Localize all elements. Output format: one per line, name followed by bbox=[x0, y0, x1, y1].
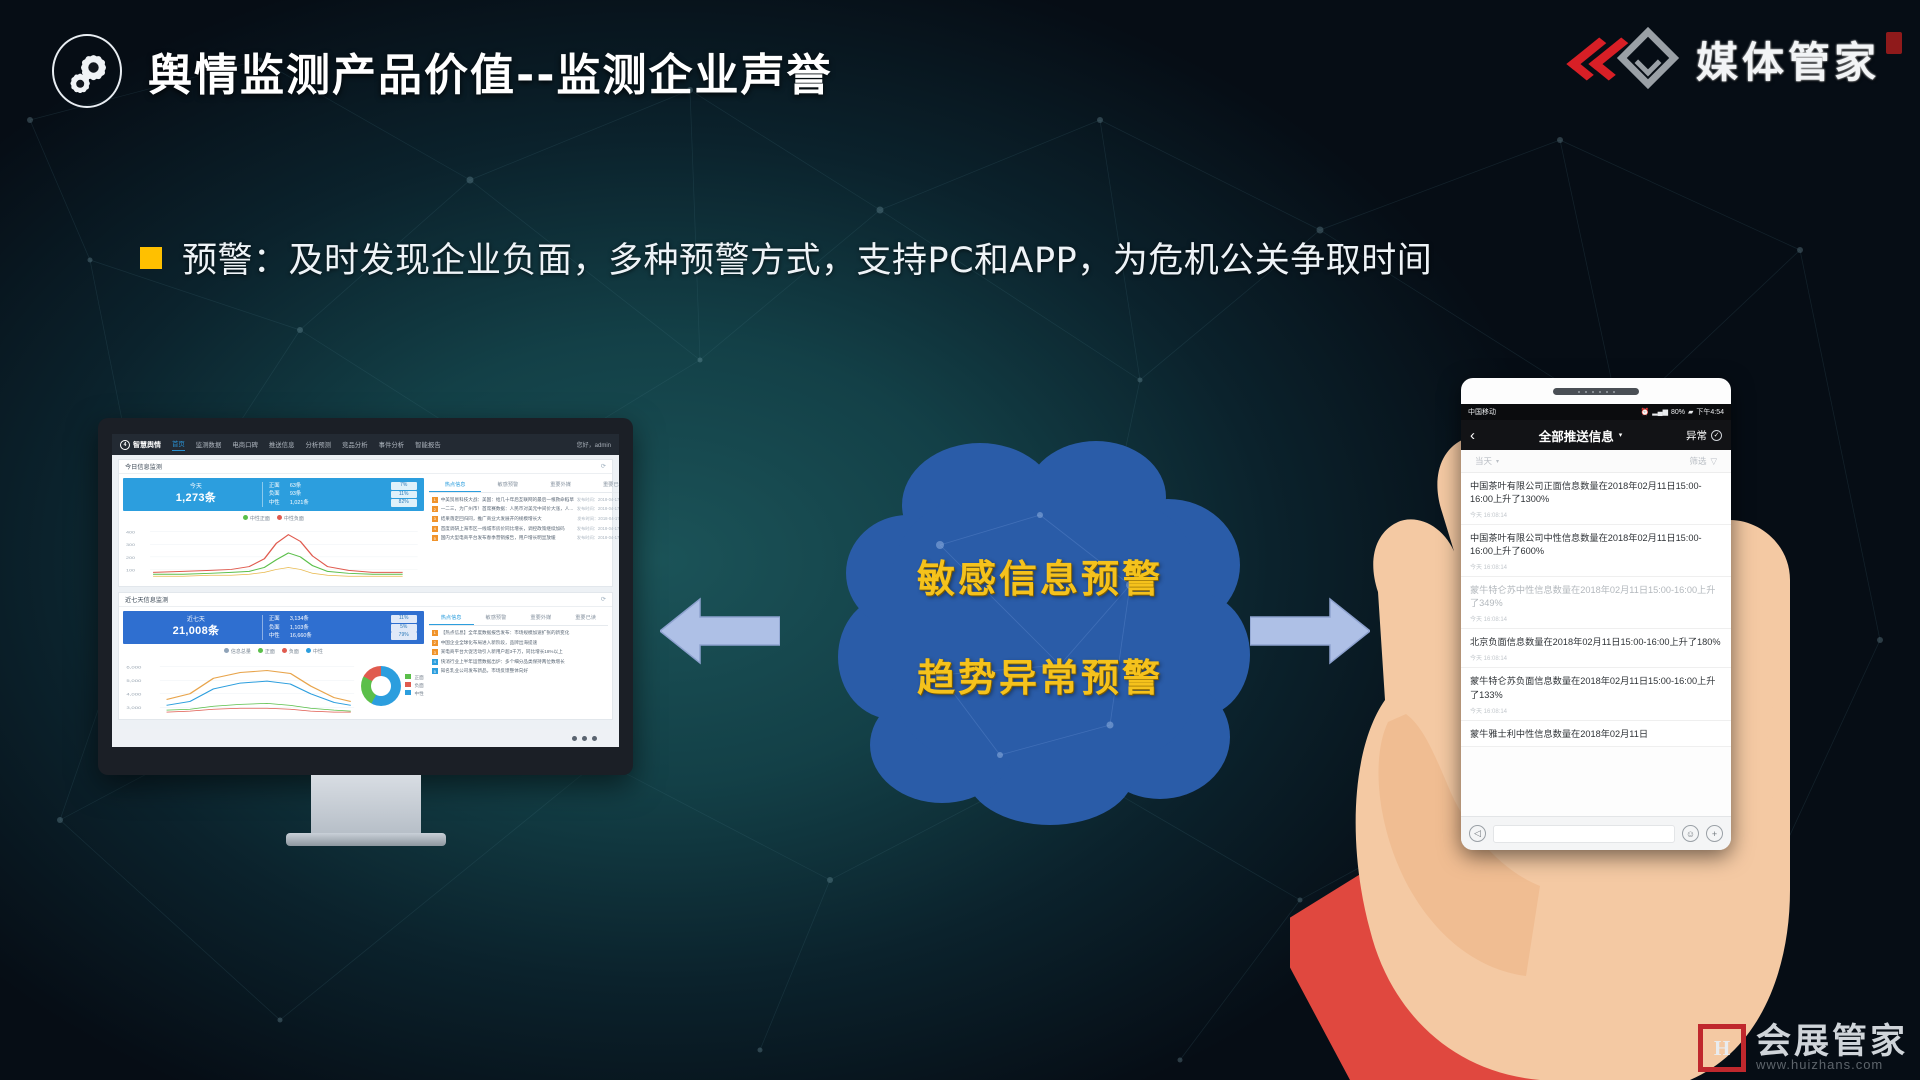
news-index: 5 bbox=[432, 535, 438, 541]
date-filter-caret-icon[interactable]: ▾ bbox=[1496, 458, 1499, 465]
news-row[interactable]: 3结果落定回归同，推广商业大发展开的规模增长大发布时间：2018-04-17 1… bbox=[429, 514, 619, 524]
chart-legend: 中性正面 中性负面 bbox=[123, 511, 424, 524]
svg-text:100: 100 bbox=[126, 568, 136, 572]
message-body: 中国茶叶有限公司中性信息数量在2018年02月11日15:00-16:00上升了… bbox=[1470, 532, 1722, 558]
news-index: 3 bbox=[432, 649, 438, 655]
stat-row-pct-0: 7% bbox=[391, 482, 417, 490]
push-message-item[interactable]: 蒙牛特仑苏中性信息数量在2018年02月11日15:00-16:00上升了349… bbox=[1461, 577, 1731, 629]
alert-cloud-shape: 敏感信息预警 趋势异常预警 bbox=[830, 425, 1250, 825]
news-index: 4 bbox=[432, 526, 438, 532]
news-row[interactable]: 5国内大型电商平台发布春季营销报告，用户增长明显放缓发布时间：2018-04-1… bbox=[429, 533, 619, 543]
stat-total-value: 21,008条 bbox=[130, 624, 262, 639]
stat-row-pct-1: 5% bbox=[391, 624, 417, 632]
legend-item-0: 信息总量 bbox=[224, 648, 251, 655]
news-row[interactable]: 2中国企业全球化布局进入新阶段，品牌出海提速 bbox=[429, 638, 608, 648]
dashboard-body: 今日信息监测 ⟳ 今天 1,273条 bbox=[112, 455, 619, 729]
watermark-letter: H bbox=[1714, 1036, 1730, 1061]
stat-row-value-0: 3,134条 bbox=[290, 615, 320, 623]
svg-text:300: 300 bbox=[126, 543, 136, 547]
bullet-point: 预警：及时发现企业负面，多种预警方式，支持PC和APP，为危机公关争取时间 bbox=[140, 232, 1432, 283]
news-row[interactable]: 3某电商平台大促活动引入新用户超3千万，同比增长18%以上 bbox=[429, 647, 608, 657]
stat-row-pct-0: 11% bbox=[391, 615, 417, 623]
news-row[interactable]: 5知名乳业公司发布新品，市场反馈整体向好 bbox=[429, 667, 608, 677]
news-time: 发布时间：2018-04-17 13:12:05 bbox=[577, 506, 619, 512]
dashboard-panel-today: 今日信息监测 ⟳ 今天 1,273条 bbox=[118, 459, 613, 587]
donut-legend: 正面 负面 中性 bbox=[405, 674, 423, 699]
watermark-logo-icon: H bbox=[1698, 1024, 1746, 1072]
push-message-item[interactable]: 中国茶叶有限公司中性信息数量在2018年02月11日15:00-16:00上升了… bbox=[1461, 525, 1731, 577]
filter-label[interactable]: 筛选 bbox=[1689, 455, 1706, 467]
stat-row-pct-1: 11% bbox=[391, 491, 417, 499]
panel-chart-area: 近七天 21,008条 正面3,134条11% 负面1,103条5% 中性16,… bbox=[123, 611, 424, 715]
news-text: 首度调研上海市区一线城市房价同比增长，调控政策继续加码 bbox=[441, 526, 574, 532]
status-battery: 80% bbox=[1671, 409, 1685, 416]
signal-icon: ▂▄▆ bbox=[1652, 408, 1668, 416]
brand-mark-icon bbox=[1580, 28, 1690, 90]
phone-input-bar: ◁ ☺ + bbox=[1461, 816, 1731, 850]
stat-row-pct-2: 79% bbox=[391, 632, 417, 640]
news-text: 国内大型电商平台发布春季营销报告，用户增长明显放缓 bbox=[441, 535, 574, 541]
news-index: 2 bbox=[432, 506, 438, 512]
news-tab-1[interactable]: 敏感预警 bbox=[481, 478, 534, 492]
y-tick-2: 4,000 bbox=[126, 693, 141, 697]
news-text: 中国企业全球化布局进入新阶段，品牌出海提速 bbox=[441, 640, 605, 646]
dashboard-nav-item-1[interactable]: 监测数据 bbox=[196, 440, 222, 449]
news-row[interactable]: 4快消行业上半年运营数据出炉：多个细分品类保持两位数增长 bbox=[429, 657, 608, 667]
svg-text:200: 200 bbox=[126, 556, 136, 560]
mobile-phone-screen: 中国移动 ⏰ ▂▄▆ 80% ▰ 下午4:54 ‹ 全部推送信息 ▾ 异常 ✓ … bbox=[1461, 378, 1731, 850]
dashboard-nav-item-2[interactable]: 电商口碑 bbox=[232, 440, 258, 449]
news-list: 1中美贸易科技大战：美国：给几十年后互联网的最后一根救命稻草发布时间：2018-… bbox=[429, 493, 619, 545]
message-body: 蒙牛特仑苏负面信息数量在2018年02月11日15:00-16:00上升了133… bbox=[1470, 675, 1722, 701]
message-body: 中国茶叶有限公司正面信息数量在2018年02月11日15:00-16:00上升了… bbox=[1470, 480, 1722, 506]
brand-logo: 媒体管家 bbox=[1580, 28, 1902, 90]
news-index: 4 bbox=[432, 659, 438, 665]
push-message-item[interactable]: 蒙牛特仑苏负面信息数量在2018年02月11日15:00-16:00上升了133… bbox=[1461, 668, 1731, 720]
monitor-stand-neck bbox=[311, 775, 421, 833]
message-time: 今天 16:08:14 bbox=[1470, 653, 1722, 662]
panel-header: 今日信息监测 ⟳ bbox=[119, 460, 612, 474]
filter-funnel-icon[interactable]: ▽ bbox=[1710, 456, 1717, 467]
stat-row-key-1: 负面 bbox=[269, 624, 285, 632]
news-text: 某电商平台大促活动引入新用户超3千万，同比增长18%以上 bbox=[441, 649, 605, 655]
dashboard-logo-mark-icon: 4 bbox=[120, 440, 130, 450]
news-text: 一二三，为广州市！首席赛数据：人民币对美元中间价大涨，人... bbox=[441, 506, 574, 512]
panel-header: 近七天信息监测 ⟳ bbox=[119, 593, 612, 607]
abnormal-icon[interactable]: ✓ bbox=[1711, 430, 1722, 441]
sentiment-donut-chart bbox=[361, 666, 401, 706]
news-list: 1【热点信息】全年度数据报告发布：市场规模加速扩张的新变化 2中国企业全球化布局… bbox=[429, 626, 608, 678]
watermark-name: 会展管家 bbox=[1756, 1024, 1908, 1061]
stat-row-value-1: 1,103条 bbox=[290, 624, 320, 632]
legend-item-3: 中性 bbox=[306, 648, 323, 655]
news-tabs: 热点信息 敏感预警 重要外媒 重要已读 bbox=[429, 611, 608, 626]
news-index: 5 bbox=[432, 668, 438, 674]
stat-row-key-1: 负面 bbox=[269, 490, 285, 498]
news-index: 1 bbox=[432, 630, 438, 636]
watermark: H 会展管家 www.huizhans.com bbox=[1698, 1024, 1908, 1072]
dashboard-nav-item-6[interactable]: 事件分析 bbox=[379, 440, 405, 449]
message-body: 蒙牛特仑苏中性信息数量在2018年02月11日15:00-16:00上升了349… bbox=[1470, 584, 1722, 610]
legend-item-0: 中性正面 bbox=[243, 515, 270, 522]
news-row[interactable]: 1中美贸易科技大战：美国：给几十年后互联网的最后一根救命稻草发布时间：2018-… bbox=[429, 495, 619, 505]
arrow-left-icon bbox=[660, 595, 780, 667]
svg-text:400: 400 bbox=[126, 531, 136, 535]
stat-row-value-2: 16,660条 bbox=[290, 632, 320, 640]
message-time: 今天 16:08:14 bbox=[1470, 706, 1722, 715]
dashboard-nav-item-3[interactable]: 推送信息 bbox=[269, 440, 295, 449]
date-filter[interactable]: 当天 bbox=[1475, 455, 1492, 467]
news-index: 3 bbox=[432, 516, 438, 522]
stat-row-key-2: 中性 bbox=[269, 499, 285, 507]
message-input-field[interactable] bbox=[1493, 825, 1675, 843]
news-time: 发布时间：2018-04-17 11:43:00 bbox=[577, 516, 619, 522]
donut-legend-item-0: 正面 bbox=[405, 674, 423, 682]
voice-speaker-icon[interactable]: ◁ bbox=[1469, 825, 1486, 842]
news-text: 结果落定回归同，推广商业大发展开的规模增长大 bbox=[441, 516, 575, 522]
brand-seal-icon bbox=[1886, 32, 1902, 54]
gears-icon bbox=[52, 34, 122, 108]
week-trend-chart: 6,000 5,000 4,000 3,000 bbox=[123, 657, 357, 715]
news-text: 【热点信息】全年度数据报告发布：市场规模加速扩张的新变化 bbox=[441, 630, 605, 636]
news-tab-3[interactable]: 重要已读 bbox=[563, 611, 608, 625]
phone-speaker-icon bbox=[1553, 388, 1639, 395]
y-tick-0: 6,000 bbox=[126, 666, 141, 670]
stat-row-pct-2: 82% bbox=[391, 499, 417, 507]
legend-item-2: 负面 bbox=[282, 648, 299, 655]
news-index: 2 bbox=[432, 640, 438, 646]
desktop-monitor-illustration: 4 智慧舆情 首页 监测数据 电商口碑 推送信息 分析预测 竞品分析 事件分析 … bbox=[98, 418, 633, 846]
dashboard-nav-item-4[interactable]: 分析预测 bbox=[305, 440, 331, 449]
push-message-list: 中国茶叶有限公司正面信息数量在2018年02月11日15:00-16:00上升了… bbox=[1461, 473, 1731, 747]
legend-item-1: 中性负面 bbox=[277, 515, 304, 522]
dashboard-logo: 4 智慧舆情 bbox=[120, 440, 161, 450]
chevron-down-icon[interactable]: ▾ bbox=[1619, 431, 1623, 439]
dashboard-nav-item-0[interactable]: 首页 bbox=[172, 439, 185, 451]
news-tab-3[interactable]: 重要已读 bbox=[587, 478, 619, 492]
slide-header: 舆情监测产品价值--监测企业声誉 bbox=[52, 34, 833, 108]
phone-nav-title[interactable]: 全部推送信息 bbox=[1539, 426, 1614, 445]
stat-row-key-0: 正面 bbox=[269, 482, 285, 490]
donut-legend-item-1: 负面 bbox=[405, 682, 423, 690]
abnormal-label[interactable]: 异常 bbox=[1686, 428, 1707, 443]
news-tab-2[interactable]: 重要外媒 bbox=[534, 478, 587, 492]
news-row[interactable]: 2一二三，为广州市！首席赛数据：人民币对美元中间价大涨，人...发布时间：201… bbox=[429, 505, 619, 515]
brand-name: 媒体管家 bbox=[1696, 29, 1880, 90]
y-tick-3: 3,000 bbox=[126, 707, 141, 711]
stat-row-key-0: 正面 bbox=[269, 615, 285, 623]
news-text: 中美贸易科技大战：美国：给几十年后互联网的最后一根救命稻草 bbox=[441, 497, 574, 503]
push-message-item[interactable]: 中国茶叶有限公司正面信息数量在2018年02月11日15:00-16:00上升了… bbox=[1461, 473, 1731, 525]
stat-row-value-0: 63条 bbox=[290, 482, 320, 490]
status-time: 下午4:54 bbox=[1696, 407, 1724, 417]
dashboard-nav-item-5[interactable]: 竞品分析 bbox=[342, 440, 368, 449]
emoji-icon[interactable]: ☺ bbox=[1682, 825, 1699, 842]
cloud-line-1: 敏感信息预警 bbox=[917, 548, 1163, 603]
news-tabs: 热点信息 敏感预警 重要外媒 重要已读 bbox=[429, 478, 619, 493]
page-title: 舆情监测产品价值--监测企业声誉 bbox=[148, 39, 833, 103]
message-body: 北京负面信息数量在2018年02月11日15:00-16:00上升了180% bbox=[1470, 636, 1722, 649]
donut-legend-item-2: 中性 bbox=[405, 690, 423, 698]
y-tick-1: 5,000 bbox=[126, 680, 141, 684]
news-time: 发布时间：2018-04-17 10:52:18 bbox=[577, 526, 619, 532]
push-message-item[interactable]: 蒙牛雅士利中性信息数量在2018年02月11日 bbox=[1461, 721, 1731, 747]
monitor-bezel: 4 智慧舆情 首页 监测数据 电商口碑 推送信息 分析预测 竞品分析 事件分析 … bbox=[98, 418, 633, 775]
dashboard-logo-text: 智慧舆情 bbox=[133, 440, 161, 450]
panel-title: 近七天信息监测 bbox=[125, 595, 168, 604]
stat-row-value-1: 93条 bbox=[290, 490, 320, 498]
monitor-stand-base bbox=[286, 833, 446, 846]
alarm-icon: ⏰ bbox=[1641, 408, 1650, 416]
cloud-line-2: 趋势异常预警 bbox=[917, 647, 1163, 702]
news-index: 1 bbox=[432, 497, 438, 503]
monitor-indicator-dots bbox=[572, 736, 597, 741]
news-row[interactable]: 4首度调研上海市区一线城市房价同比增长，调控政策继续加码发布时间：2018-04… bbox=[429, 524, 619, 534]
panel-news-area: 热点信息 敏感预警 重要外媒 重要已读 1【热点信息】全年度数据报告发布：市场规… bbox=[429, 611, 608, 715]
chart-legend: 信息总量 正面 负面 中性 bbox=[123, 644, 424, 657]
news-tab-2[interactable]: 重要外媒 bbox=[518, 611, 563, 625]
today-trend-chart: 400300 200100 bbox=[123, 524, 424, 582]
news-text: 知名乳业公司发布新品，市场反馈整体向好 bbox=[441, 668, 605, 674]
cloud-text-block: 敏感信息预警 趋势异常预警 bbox=[830, 425, 1250, 825]
slide-canvas: 舆情监测产品价值--监测企业声誉 媒体管家 预警：及时发现企业负面，多种预警方式… bbox=[0, 0, 1920, 1080]
push-message-item[interactable]: 北京负面信息数量在2018年02月11日15:00-16:00上升了180% 今… bbox=[1461, 629, 1731, 668]
battery-icon: ▰ bbox=[1688, 408, 1693, 416]
monitor-screen: 4 智慧舆情 首页 监测数据 电商口碑 推送信息 分析预测 竞品分析 事件分析 … bbox=[112, 434, 619, 747]
news-row[interactable]: 1【热点信息】全年度数据报告发布：市场规模加速扩张的新变化 bbox=[429, 628, 608, 638]
news-time: 发布时间：2018-04-17 09:31:47 bbox=[577, 535, 619, 541]
message-time: 今天 16:08:14 bbox=[1470, 562, 1722, 571]
panel-chart-area: 今天 1,273条 正面63条7% 负面93条11% 中性1,021条82% bbox=[123, 478, 424, 582]
panel-title: 今日信息监测 bbox=[125, 462, 162, 471]
add-more-icon[interactable]: + bbox=[1706, 825, 1723, 842]
phone-filter-bar: 当天 ▾ 筛选 ▽ bbox=[1461, 450, 1731, 473]
stat-summary-bar: 近七天 21,008条 正面3,134条11% 负面1,103条5% 中性16,… bbox=[123, 611, 424, 644]
phone-navbar: ‹ 全部推送信息 ▾ 异常 ✓ bbox=[1461, 420, 1731, 450]
news-tab-1[interactable]: 敏感预警 bbox=[474, 611, 519, 625]
stat-row-key-2: 中性 bbox=[269, 632, 285, 640]
stat-row-value-2: 1,021条 bbox=[290, 499, 320, 507]
news-time: 发布时间：2018-04-17 12:44:30 bbox=[577, 497, 619, 503]
stat-summary-bar: 今天 1,273条 正面63条7% 负面93条11% 中性1,021条82% bbox=[123, 478, 424, 511]
news-tab-0[interactable]: 热点信息 bbox=[429, 478, 482, 492]
refresh-icon[interactable]: ⟳ bbox=[601, 463, 606, 470]
stat-period-label: 近七天 bbox=[130, 616, 262, 624]
dashboard-panel-week: 近七天信息监测 ⟳ 近七天 21,008条 bbox=[118, 592, 613, 720]
refresh-icon[interactable]: ⟳ bbox=[601, 596, 606, 603]
news-tab-0[interactable]: 热点信息 bbox=[429, 611, 474, 625]
stat-total-value: 1,273条 bbox=[130, 491, 262, 506]
status-carrier: 中国移动 bbox=[1468, 407, 1496, 417]
message-time: 今天 16:08:14 bbox=[1470, 510, 1722, 519]
dashboard-nav-item-7[interactable]: 智能报告 bbox=[415, 440, 441, 449]
phone-status-bar: 中国移动 ⏰ ▂▄▆ 80% ▰ 下午4:54 bbox=[1461, 404, 1731, 420]
dashboard-user-menu[interactable]: 您好，admin bbox=[577, 440, 611, 449]
news-text: 快消行业上半年运营数据出炉：多个细分品类保持两位数增长 bbox=[441, 659, 605, 665]
message-time: 今天 16:08:14 bbox=[1470, 614, 1722, 623]
legend-item-1: 正面 bbox=[258, 648, 275, 655]
bullet-square-icon bbox=[140, 247, 162, 269]
dashboard-navbar: 4 智慧舆情 首页 监测数据 电商口碑 推送信息 分析预测 竞品分析 事件分析 … bbox=[112, 434, 619, 455]
message-body: 蒙牛雅士利中性信息数量在2018年02月11日 bbox=[1470, 728, 1722, 741]
stat-period-label: 今天 bbox=[130, 483, 262, 491]
bullet-text: 预警：及时发现企业负面，多种预警方式，支持PC和APP，为危机公关争取时间 bbox=[182, 232, 1432, 283]
panel-news-area: 热点信息 敏感预警 重要外媒 重要已读 1中美贸易科技大战：美国：给几十年后互联… bbox=[429, 478, 619, 582]
